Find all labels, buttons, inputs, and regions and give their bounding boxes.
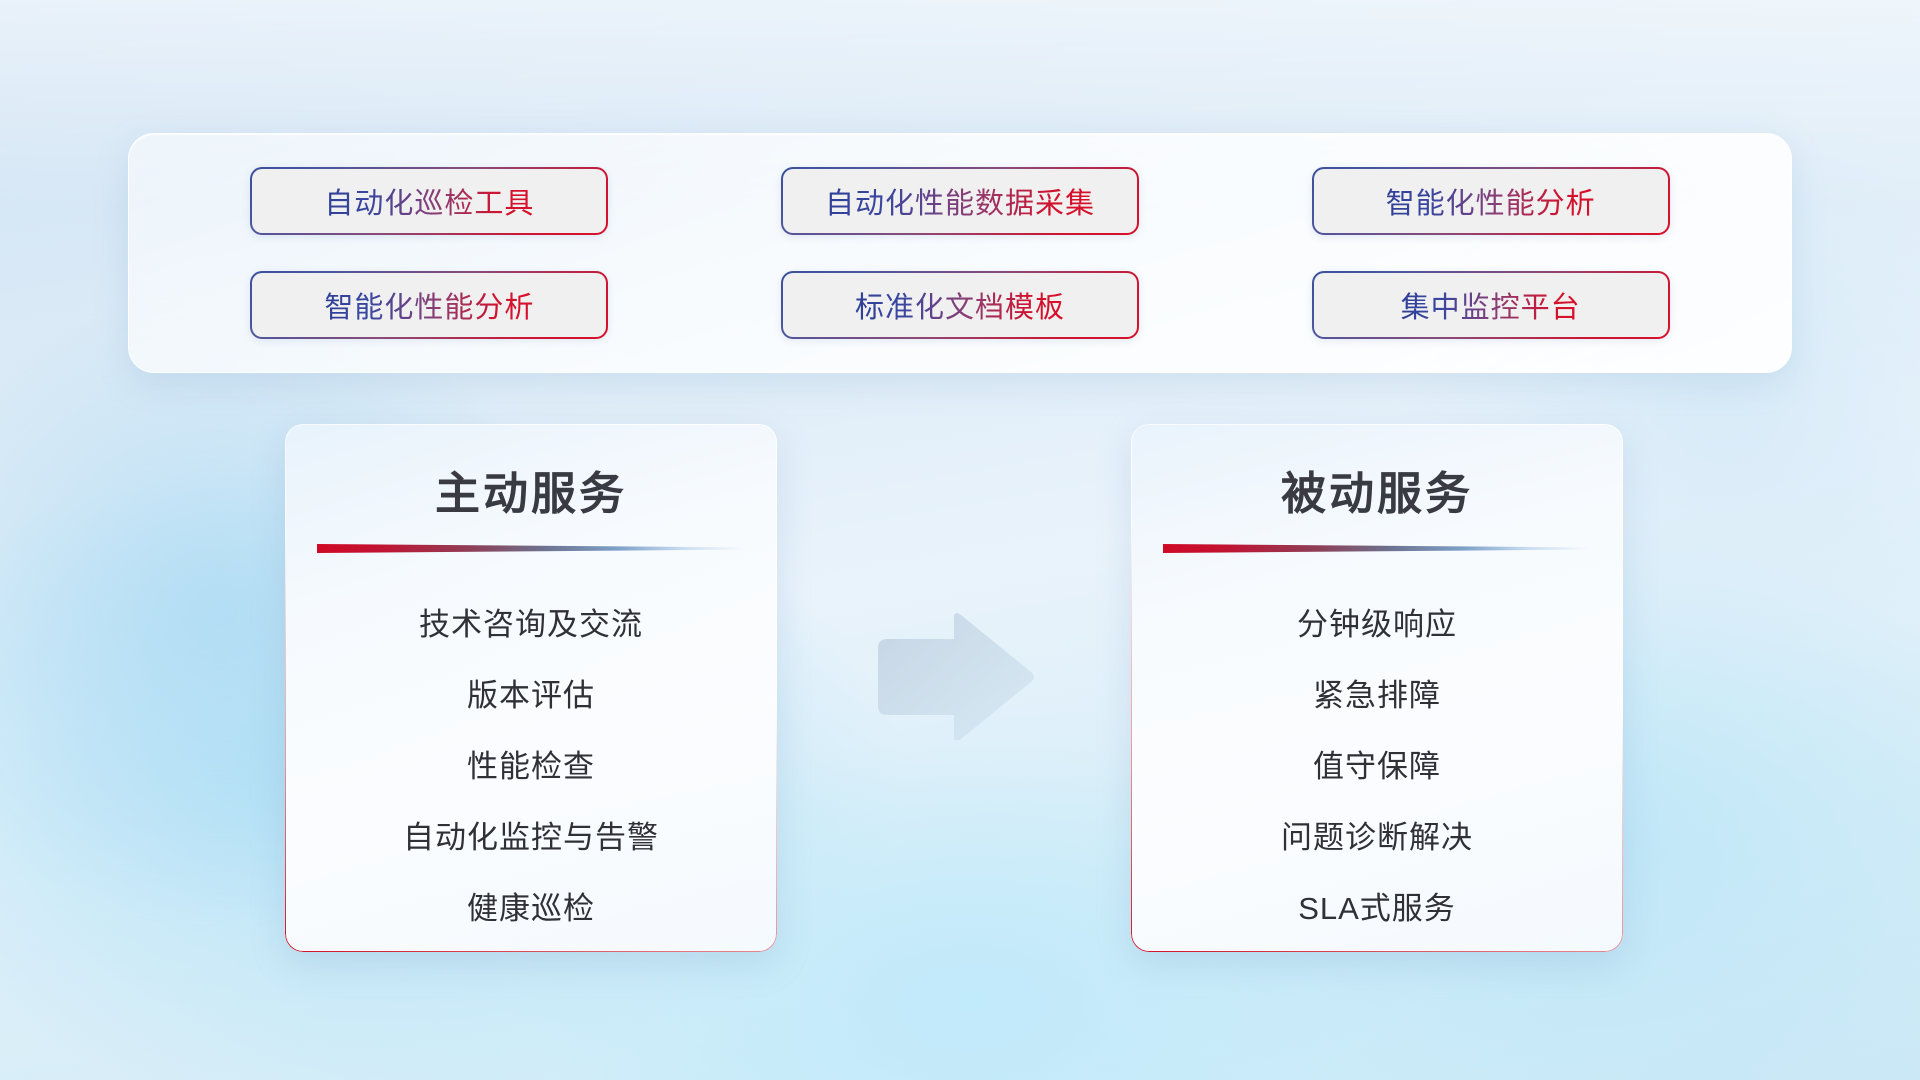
capability-pill-1-inner: 自动化巡检工具 (252, 169, 606, 233)
proactive-service-divider (317, 544, 745, 553)
right-arrow-icon (872, 610, 1037, 740)
capability-pill-1-label: 自动化巡检工具 (324, 180, 534, 222)
list-item: 分钟级响应 (1155, 589, 1599, 660)
capability-pill-5-label: 标准化文档模板 (855, 284, 1065, 326)
capability-tags-panel: 自动化巡检工具 自动化性能数据采集 智能化性能分析 智能化性能分析 标准化文档模… (128, 133, 1792, 373)
capability-pill-3-inner: 智能化性能分析 (1314, 169, 1668, 233)
proactive-service-list: 技术咨询及交流 版本评估 性能检查 自动化监控与告警 健康巡检 (285, 589, 777, 944)
list-item: 值守保障 (1155, 731, 1599, 802)
capability-pill-6-inner: 集中监控平台 (1314, 273, 1668, 337)
list-item: 性能检查 (309, 731, 753, 802)
capability-pill-4-inner: 智能化性能分析 (252, 273, 606, 337)
reactive-service-list: 分钟级响应 紧急排障 值守保障 问题诊断解决 SLA式服务 (1131, 589, 1623, 944)
proactive-service-title: 主动服务 (285, 457, 777, 522)
capability-pill-1[interactable]: 自动化巡检工具 (250, 167, 608, 235)
capability-pill-6-label: 集中监控平台 (1401, 284, 1581, 326)
capability-pill-2-inner: 自动化性能数据采集 (783, 169, 1137, 233)
reactive-service-title: 被动服务 (1131, 457, 1623, 522)
list-item: 自动化监控与告警 (309, 802, 753, 873)
reactive-service-card: 被动服务 分钟级响应 紧急排障 值守保障 问题诊断解决 SLA式服务 (1131, 424, 1623, 952)
capability-pill-5[interactable]: 标准化文档模板 (781, 271, 1139, 339)
reactive-service-divider (1163, 544, 1591, 553)
capability-pill-3-label: 智能化性能分析 (1386, 180, 1596, 222)
capability-pill-6[interactable]: 集中监控平台 (1312, 271, 1670, 339)
list-item: 紧急排障 (1155, 660, 1599, 731)
list-item: 健康巡检 (309, 873, 753, 944)
capability-pill-5-inner: 标准化文档模板 (783, 273, 1137, 337)
proactive-service-card: 主动服务 技术咨询及交流 版本评估 性能检查 自动化监控与告警 健康巡检 (285, 424, 777, 952)
list-item: 问题诊断解决 (1155, 802, 1599, 873)
capability-pill-2[interactable]: 自动化性能数据采集 (781, 167, 1139, 235)
capability-pill-4[interactable]: 智能化性能分析 (250, 271, 608, 339)
capability-pill-3[interactable]: 智能化性能分析 (1312, 167, 1670, 235)
list-item: 版本评估 (309, 660, 753, 731)
capability-pill-4-label: 智能化性能分析 (324, 284, 534, 326)
capability-pill-2-label: 自动化性能数据采集 (825, 180, 1095, 222)
list-item: 技术咨询及交流 (309, 589, 753, 660)
list-item: SLA式服务 (1155, 873, 1599, 944)
